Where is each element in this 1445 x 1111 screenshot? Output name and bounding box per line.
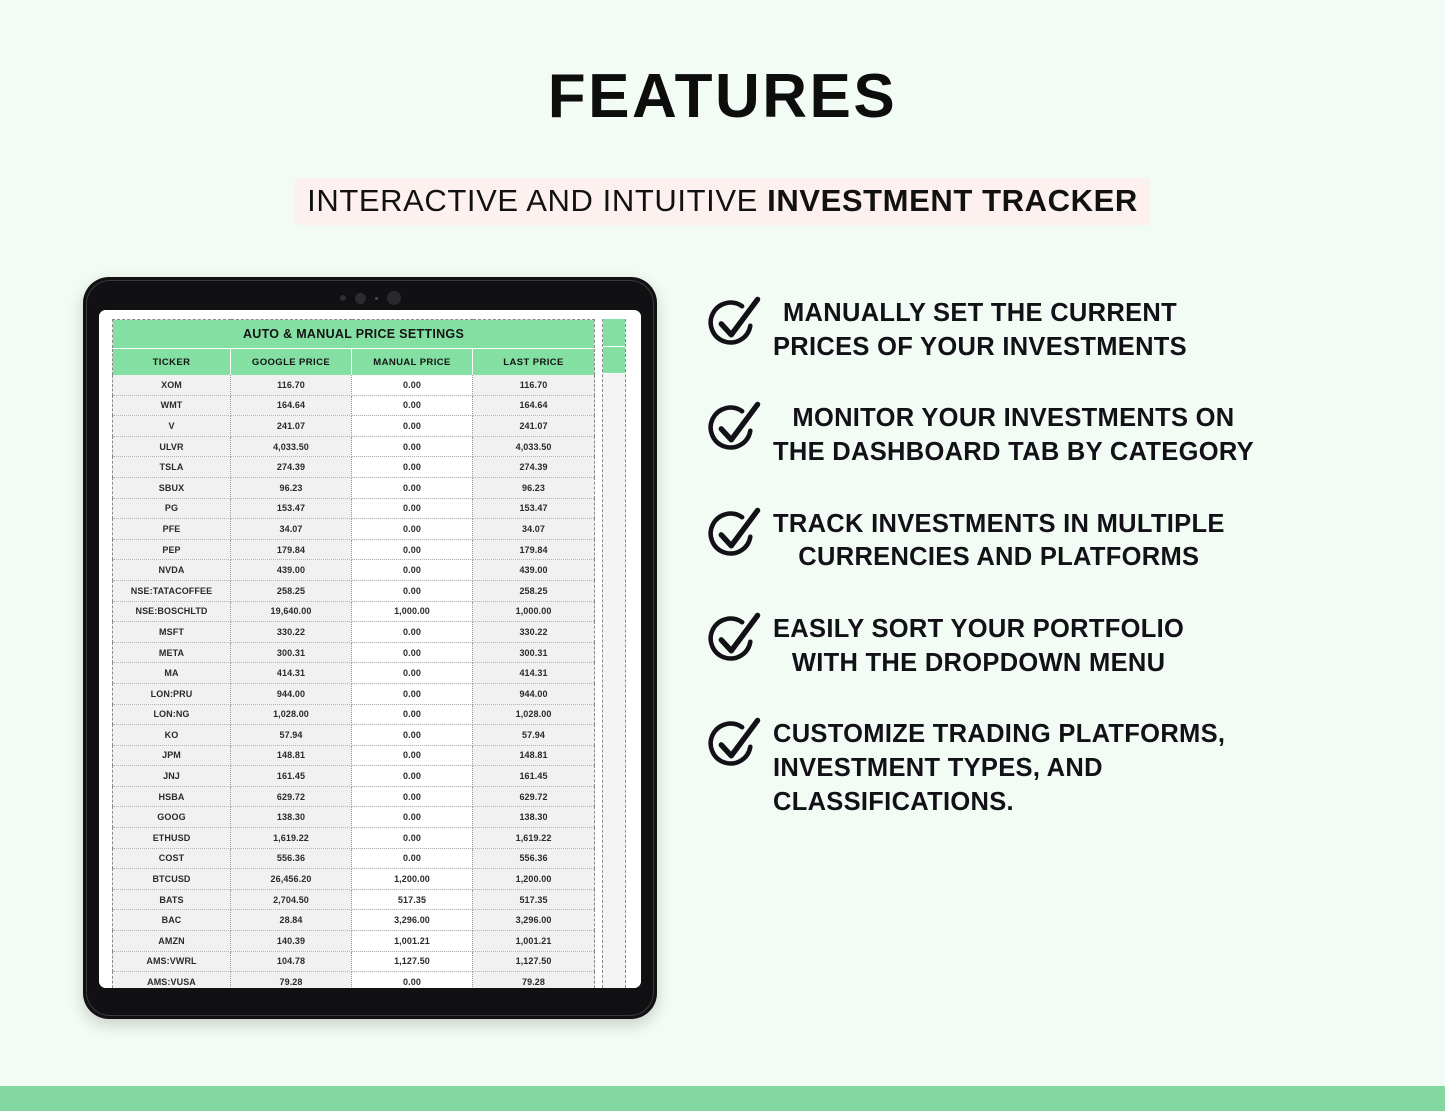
cell-manual-price[interactable]: 0.00 bbox=[352, 436, 473, 457]
cell-last-price[interactable]: 274.39 bbox=[473, 457, 595, 478]
feature-text-line: TRACK INVESTMENTS IN MULTIPLE bbox=[773, 508, 1225, 542]
cell-manual-price[interactable]: 3,296.00 bbox=[352, 910, 473, 931]
check-circle-icon bbox=[705, 715, 763, 773]
cell-manual-price[interactable]: 0.00 bbox=[352, 477, 473, 498]
table-row[interactable]: ULVR4,033.500.004,033.50 bbox=[113, 436, 595, 457]
cell-google-price[interactable]: 79.28 bbox=[231, 972, 352, 988]
cell-google-price[interactable]: 19,640.00 bbox=[231, 601, 352, 622]
table-row[interactable]: NSE:BOSCHLTD19,640.001,000.001,000.00 bbox=[113, 601, 595, 622]
table-row[interactable]: AMZN140.391,001.211,001.21 bbox=[113, 931, 595, 952]
cell-manual-price[interactable]: 1,000.00 bbox=[352, 601, 473, 622]
cell-last-price[interactable]: 517.35 bbox=[473, 889, 595, 910]
cell-last-price[interactable]: 161.45 bbox=[473, 766, 595, 787]
feature-item: MANUALLY SET THE CURRENTPRICES OF YOUR I… bbox=[705, 292, 1415, 364]
check-circle-icon bbox=[705, 294, 763, 352]
cell-last-price[interactable]: 629.72 bbox=[473, 786, 595, 807]
cell-manual-price[interactable]: 0.00 bbox=[352, 828, 473, 849]
column-header-last-price[interactable]: LAST PRICE bbox=[473, 349, 595, 376]
feature-text-line: EASILY SORT YOUR PORTFOLIO bbox=[773, 613, 1184, 647]
table-row[interactable]: BAC28.843,296.003,296.00 bbox=[113, 910, 595, 931]
cell-last-price[interactable]: 258.25 bbox=[473, 580, 595, 601]
cell-ticker[interactable]: JPM bbox=[113, 745, 231, 766]
cell-google-price[interactable]: 26,456.20 bbox=[231, 869, 352, 890]
cell-manual-price[interactable]: 0.00 bbox=[352, 766, 473, 787]
feature-text-line: CURRENCIES AND PLATFORMS bbox=[773, 541, 1225, 575]
cell-ticker[interactable]: AMZN bbox=[113, 931, 231, 952]
cell-last-price[interactable]: 1,001.21 bbox=[473, 931, 595, 952]
column-header-manual-price[interactable]: MANUAL PRICE bbox=[352, 349, 473, 376]
cell-ticker[interactable]: NSE:BOSCHLTD bbox=[113, 601, 231, 622]
column-header-ticker[interactable]: TICKER bbox=[113, 349, 231, 376]
table-row[interactable]: COST556.360.00556.36 bbox=[113, 848, 595, 869]
cell-last-price[interactable]: 1,200.00 bbox=[473, 869, 595, 890]
features-list: MANUALLY SET THE CURRENTPRICES OF YOUR I… bbox=[705, 292, 1415, 819]
cell-google-price[interactable]: 164.64 bbox=[231, 395, 352, 416]
cell-last-price[interactable]: 153.47 bbox=[473, 498, 595, 519]
cell-google-price[interactable]: 944.00 bbox=[231, 683, 352, 704]
cell-google-price[interactable]: 439.00 bbox=[231, 560, 352, 581]
feature-item: MONITOR YOUR INVESTMENTS ONTHE DASHBOARD… bbox=[705, 397, 1415, 469]
subtitle-light-text: INTERACTIVE AND INTUITIVE bbox=[307, 183, 767, 218]
cell-ticker[interactable]: NSE:TATACOFFEE bbox=[113, 580, 231, 601]
cell-google-price[interactable]: 330.22 bbox=[231, 622, 352, 643]
cell-last-price[interactable]: 4,033.50 bbox=[473, 436, 595, 457]
table-column-header-row: TICKER GOOGLE PRICE MANUAL PRICE LAST PR… bbox=[113, 349, 595, 376]
cell-manual-price[interactable]: 0.00 bbox=[352, 395, 473, 416]
cell-ticker[interactable]: META bbox=[113, 642, 231, 663]
cell-google-price[interactable]: 241.07 bbox=[231, 416, 352, 437]
cell-manual-price[interactable]: 0.00 bbox=[352, 375, 473, 395]
cell-last-price[interactable]: 116.70 bbox=[473, 375, 595, 395]
cell-last-price[interactable]: 179.84 bbox=[473, 539, 595, 560]
cell-ticker[interactable]: BTCUSD bbox=[113, 869, 231, 890]
cell-google-price[interactable]: 34.07 bbox=[231, 519, 352, 540]
cell-manual-price[interactable]: 0.00 bbox=[352, 745, 473, 766]
tablet-screen: AUTO & MANUAL PRICE SETTINGS TICKER GOOG… bbox=[99, 310, 641, 988]
bottom-accent-bar bbox=[0, 1086, 1445, 1111]
cell-manual-price[interactable]: 0.00 bbox=[352, 519, 473, 540]
cell-last-price[interactable]: 164.64 bbox=[473, 395, 595, 416]
cell-google-price[interactable]: 179.84 bbox=[231, 539, 352, 560]
cell-google-price[interactable]: 138.30 bbox=[231, 807, 352, 828]
subtitle-bold-text: INVESTMENT TRACKER bbox=[767, 183, 1138, 218]
cell-google-price[interactable]: 258.25 bbox=[231, 580, 352, 601]
clipped-adjacent-column bbox=[602, 319, 626, 988]
table-body[interactable]: XOM116.700.00116.70WMT164.640.00164.64V2… bbox=[113, 375, 595, 988]
table-row[interactable]: WMT164.640.00164.64 bbox=[113, 395, 595, 416]
cell-last-price[interactable]: 34.07 bbox=[473, 519, 595, 540]
page-title: FEATURES bbox=[0, 66, 1445, 128]
cell-manual-price[interactable]: 0.00 bbox=[352, 848, 473, 869]
feature-text-line: CLASSIFICATIONS. bbox=[773, 786, 1225, 820]
cell-google-price[interactable]: 4,033.50 bbox=[231, 436, 352, 457]
cell-google-price[interactable]: 161.45 bbox=[231, 766, 352, 787]
table-row[interactable]: GOOG138.300.00138.30 bbox=[113, 807, 595, 828]
table-row[interactable]: BATS2,704.50517.35517.35 bbox=[113, 889, 595, 910]
cell-ticker[interactable]: BAC bbox=[113, 910, 231, 931]
table-row[interactable]: JPM148.810.00148.81 bbox=[113, 745, 595, 766]
cell-ticker[interactable]: ETHUSD bbox=[113, 828, 231, 849]
check-circle-icon bbox=[705, 505, 763, 563]
subtitle-container: INTERACTIVE AND INTUITIVE INVESTMENT TRA… bbox=[0, 178, 1445, 225]
cell-google-price[interactable]: 153.47 bbox=[231, 498, 352, 519]
cell-ticker[interactable]: MSFT bbox=[113, 622, 231, 643]
column-header-google-price[interactable]: GOOGLE PRICE bbox=[231, 349, 352, 376]
feature-item: CUSTOMIZE TRADING PLATFORMS,INVESTMENT T… bbox=[705, 713, 1415, 819]
cell-last-price[interactable]: 79.28 bbox=[473, 972, 595, 988]
cell-manual-price[interactable]: 0.00 bbox=[352, 786, 473, 807]
front-camera-icon bbox=[387, 291, 401, 305]
tablet-camera-array bbox=[83, 290, 657, 306]
check-circle-icon bbox=[705, 399, 763, 457]
cell-google-price[interactable]: 96.23 bbox=[231, 477, 352, 498]
feature-text: TRACK INVESTMENTS IN MULTIPLECURRENCIES … bbox=[773, 503, 1225, 575]
feature-text-line: WITH THE DROPDOWN MENU bbox=[773, 647, 1184, 681]
sensor-icon bbox=[340, 295, 346, 301]
cell-google-price[interactable]: 28.84 bbox=[231, 910, 352, 931]
cell-last-price[interactable]: 1,127.50 bbox=[473, 951, 595, 972]
spreadsheet-view[interactable]: AUTO & MANUAL PRICE SETTINGS TICKER GOOG… bbox=[99, 310, 641, 988]
sheet-title: AUTO & MANUAL PRICE SETTINGS bbox=[113, 320, 595, 349]
table-row[interactable]: TSLA274.390.00274.39 bbox=[113, 457, 595, 478]
table-row[interactable]: PFE34.070.0034.07 bbox=[113, 519, 595, 540]
camera-lens-icon bbox=[355, 293, 366, 304]
cell-google-price[interactable]: 556.36 bbox=[231, 848, 352, 869]
cell-manual-price[interactable]: 0.00 bbox=[352, 416, 473, 437]
cell-ticker[interactable]: PEP bbox=[113, 539, 231, 560]
cell-ticker[interactable]: GOOG bbox=[113, 807, 231, 828]
cell-manual-price[interactable]: 1,001.21 bbox=[352, 931, 473, 952]
table-row[interactable]: AMS:VUSA79.280.0079.28 bbox=[113, 972, 595, 988]
cell-manual-price[interactable]: 0.00 bbox=[352, 807, 473, 828]
cell-last-price[interactable]: 148.81 bbox=[473, 745, 595, 766]
cell-last-price[interactable]: 330.22 bbox=[473, 622, 595, 643]
cell-ticker[interactable]: JNJ bbox=[113, 766, 231, 787]
table-row[interactable]: BTCUSD26,456.201,200.001,200.00 bbox=[113, 869, 595, 890]
feature-item: TRACK INVESTMENTS IN MULTIPLECURRENCIES … bbox=[705, 503, 1415, 575]
cell-ticker[interactable]: LON:PRU bbox=[113, 683, 231, 704]
table-row[interactable]: NSE:TATACOFFEE258.250.00258.25 bbox=[113, 580, 595, 601]
cell-manual-price[interactable]: 0.00 bbox=[352, 580, 473, 601]
clipped-column-header bbox=[603, 319, 625, 374]
cell-manual-price[interactable]: 517.35 bbox=[352, 889, 473, 910]
cell-manual-price[interactable]: 0.00 bbox=[352, 683, 473, 704]
feature-text-line: PRICES OF YOUR INVESTMENTS bbox=[773, 331, 1187, 365]
cell-last-price[interactable]: 439.00 bbox=[473, 560, 595, 581]
subtitle-highlight: INTERACTIVE AND INTUITIVE INVESTMENT TRA… bbox=[295, 178, 1150, 225]
feature-text: EASILY SORT YOUR PORTFOLIOWITH THE DROPD… bbox=[773, 608, 1184, 680]
cell-google-price[interactable]: 1,619.22 bbox=[231, 828, 352, 849]
cell-ticker[interactable]: PFE bbox=[113, 519, 231, 540]
table-row[interactable]: MA414.310.00414.31 bbox=[113, 663, 595, 684]
cell-last-price[interactable]: 57.94 bbox=[473, 725, 595, 746]
table-row[interactable]: MSFT330.220.00330.22 bbox=[113, 622, 595, 643]
table-row[interactable]: V241.070.00241.07 bbox=[113, 416, 595, 437]
cell-google-price[interactable]: 104.78 bbox=[231, 951, 352, 972]
table-row[interactable]: LON:NG1,028.000.001,028.00 bbox=[113, 704, 595, 725]
cell-ticker[interactable]: COST bbox=[113, 848, 231, 869]
feature-text: MONITOR YOUR INVESTMENTS ONTHE DASHBOARD… bbox=[773, 397, 1254, 469]
feature-text-line: CUSTOMIZE TRADING PLATFORMS, bbox=[773, 718, 1225, 752]
table-row[interactable]: SBUX96.230.0096.23 bbox=[113, 477, 595, 498]
cell-ticker[interactable]: SBUX bbox=[113, 477, 231, 498]
cell-manual-price[interactable]: 0.00 bbox=[352, 663, 473, 684]
cell-last-price[interactable]: 1,619.22 bbox=[473, 828, 595, 849]
cell-ticker[interactable]: XOM bbox=[113, 375, 231, 395]
cell-google-price[interactable]: 148.81 bbox=[231, 745, 352, 766]
cell-last-price[interactable]: 138.30 bbox=[473, 807, 595, 828]
cell-last-price[interactable]: 3,296.00 bbox=[473, 910, 595, 931]
cell-manual-price[interactable]: 1,200.00 bbox=[352, 869, 473, 890]
cell-last-price[interactable]: 1,028.00 bbox=[473, 704, 595, 725]
cell-manual-price[interactable]: 1,127.50 bbox=[352, 951, 473, 972]
cell-manual-price[interactable]: 0.00 bbox=[352, 972, 473, 988]
cell-ticker[interactable]: NVDA bbox=[113, 560, 231, 581]
table-row[interactable]: XOM116.700.00116.70 bbox=[113, 375, 595, 395]
cell-google-price[interactable]: 57.94 bbox=[231, 725, 352, 746]
check-circle-icon bbox=[705, 610, 763, 668]
table-row[interactable]: PG153.470.00153.47 bbox=[113, 498, 595, 519]
cell-ticker[interactable]: AMS:VUSA bbox=[113, 972, 231, 988]
table-row[interactable]: KO57.940.0057.94 bbox=[113, 725, 595, 746]
cell-ticker[interactable]: WMT bbox=[113, 395, 231, 416]
price-settings-table[interactable]: AUTO & MANUAL PRICE SETTINGS TICKER GOOG… bbox=[112, 319, 595, 988]
cell-ticker[interactable]: HSBA bbox=[113, 786, 231, 807]
table-row[interactable]: LON:PRU944.000.00944.00 bbox=[113, 683, 595, 704]
cell-manual-price[interactable]: 0.00 bbox=[352, 457, 473, 478]
table-row[interactable]: PEP179.840.00179.84 bbox=[113, 539, 595, 560]
feature-text-line: THE DASHBOARD TAB BY CATEGORY bbox=[773, 436, 1254, 470]
indicator-light-icon bbox=[375, 297, 378, 300]
cell-ticker[interactable]: KO bbox=[113, 725, 231, 746]
cell-google-price[interactable]: 414.31 bbox=[231, 663, 352, 684]
feature-text: MANUALLY SET THE CURRENTPRICES OF YOUR I… bbox=[773, 292, 1187, 364]
feature-item: EASILY SORT YOUR PORTFOLIOWITH THE DROPD… bbox=[705, 608, 1415, 680]
cell-ticker[interactable]: V bbox=[113, 416, 231, 437]
cell-ticker[interactable]: ULVR bbox=[113, 436, 231, 457]
cell-ticker[interactable]: PG bbox=[113, 498, 231, 519]
cell-google-price[interactable]: 116.70 bbox=[231, 375, 352, 395]
cell-google-price[interactable]: 1,028.00 bbox=[231, 704, 352, 725]
feature-text-line: MONITOR YOUR INVESTMENTS ON bbox=[773, 402, 1254, 436]
cell-ticker[interactable]: MA bbox=[113, 663, 231, 684]
cell-ticker[interactable]: BATS bbox=[113, 889, 231, 910]
cell-last-price[interactable]: 556.36 bbox=[473, 848, 595, 869]
table-header-group: AUTO & MANUAL PRICE SETTINGS TICKER GOOG… bbox=[113, 320, 595, 376]
feature-text-line: INVESTMENT TYPES, AND bbox=[773, 752, 1225, 786]
cell-manual-price[interactable]: 0.00 bbox=[352, 622, 473, 643]
table-row[interactable]: ETHUSD1,619.220.001,619.22 bbox=[113, 828, 595, 849]
cell-manual-price[interactable]: 0.00 bbox=[352, 725, 473, 746]
table-title-row: AUTO & MANUAL PRICE SETTINGS bbox=[113, 320, 595, 349]
table-row[interactable]: HSBA629.720.00629.72 bbox=[113, 786, 595, 807]
cell-google-price[interactable]: 629.72 bbox=[231, 786, 352, 807]
table-row[interactable]: AMS:VWRL104.781,127.501,127.50 bbox=[113, 951, 595, 972]
cell-google-price[interactable]: 2,704.50 bbox=[231, 889, 352, 910]
cell-manual-price[interactable]: 0.00 bbox=[352, 539, 473, 560]
cell-google-price[interactable]: 300.31 bbox=[231, 642, 352, 663]
feature-text-line: MANUALLY SET THE CURRENT bbox=[773, 297, 1187, 331]
cell-manual-price[interactable]: 0.00 bbox=[352, 560, 473, 581]
table-row[interactable]: META300.310.00300.31 bbox=[113, 642, 595, 663]
table-row[interactable]: NVDA439.000.00439.00 bbox=[113, 560, 595, 581]
cell-manual-price[interactable]: 0.00 bbox=[352, 642, 473, 663]
cell-last-price[interactable]: 241.07 bbox=[473, 416, 595, 437]
cell-last-price[interactable]: 1,000.00 bbox=[473, 601, 595, 622]
table-row[interactable]: JNJ161.450.00161.45 bbox=[113, 766, 595, 787]
cell-last-price[interactable]: 414.31 bbox=[473, 663, 595, 684]
cell-last-price[interactable]: 944.00 bbox=[473, 683, 595, 704]
cell-ticker[interactable]: AMS:VWRL bbox=[113, 951, 231, 972]
cell-last-price[interactable]: 300.31 bbox=[473, 642, 595, 663]
cell-last-price[interactable]: 96.23 bbox=[473, 477, 595, 498]
cell-manual-price[interactable]: 0.00 bbox=[352, 498, 473, 519]
tablet-device: AUTO & MANUAL PRICE SETTINGS TICKER GOOG… bbox=[83, 277, 657, 1019]
cell-google-price[interactable]: 274.39 bbox=[231, 457, 352, 478]
cell-ticker[interactable]: TSLA bbox=[113, 457, 231, 478]
cell-google-price[interactable]: 140.39 bbox=[231, 931, 352, 952]
feature-text: CUSTOMIZE TRADING PLATFORMS,INVESTMENT T… bbox=[773, 713, 1225, 819]
cell-ticker[interactable]: LON:NG bbox=[113, 704, 231, 725]
cell-manual-price[interactable]: 0.00 bbox=[352, 704, 473, 725]
